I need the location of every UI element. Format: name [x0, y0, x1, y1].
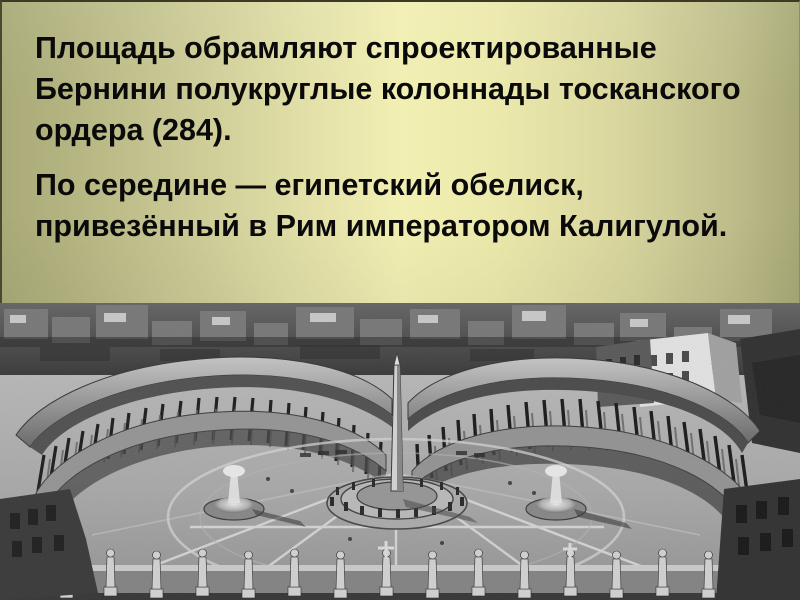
slide-text-block: Площадь обрамляют спроектированные Берни…: [35, 28, 765, 247]
aerial-photo-illustration: [0, 303, 800, 600]
presentation-slide: Площадь обрамляют спроектированные Берни…: [0, 0, 800, 600]
text-panel: Площадь обрамляют спроектированные Берни…: [0, 0, 800, 303]
paragraph-colonnades: Площадь обрамляют спроектированные Берни…: [35, 28, 765, 151]
paragraph-obelisk: По середине — египетский обелиск, привез…: [35, 165, 765, 247]
st-peters-square-aerial-photo: Чёрно-белая аэрофотосъёмка площади Свято…: [0, 303, 800, 600]
